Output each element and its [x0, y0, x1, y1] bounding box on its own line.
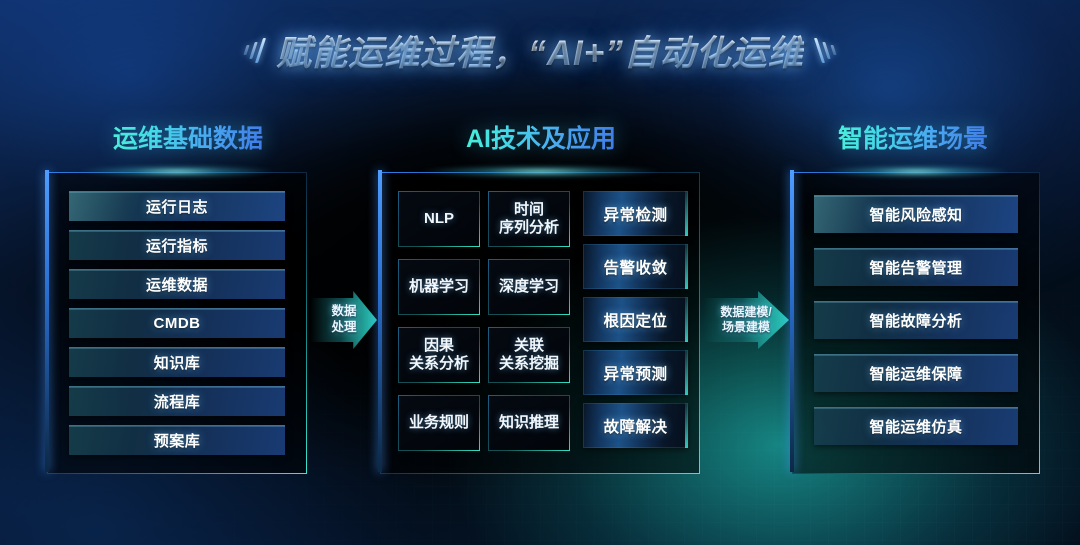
list-item[interactable]: 运行日志 — [69, 191, 285, 221]
tech-box[interactable]: NLP — [398, 191, 480, 247]
list-item[interactable]: 智能运维仿真 — [814, 407, 1018, 445]
panel-ops-data: 运行日志 运行指标 运维数据 CMDB 知识库 流程库 预案库 — [47, 172, 307, 474]
tech-box[interactable]: 业务规则 — [398, 395, 480, 451]
arrow-data-and-scenario-modeling: 数据建模/ 场景建模 — [703, 291, 789, 349]
column-heading-ai-tech: AI技术及应用 — [466, 119, 616, 155]
arrow-label-line2: 场景建模 — [722, 320, 770, 334]
tech-box[interactable]: 关联关系挖掘 — [488, 327, 570, 383]
capability-box[interactable]: 故障解决 — [583, 403, 688, 448]
tech-box[interactable]: 因果关系分析 — [398, 327, 480, 383]
list-item[interactable]: 知识库 — [69, 347, 285, 377]
arrow-label: 数据建模/ 场景建模 — [720, 305, 771, 335]
list-item[interactable]: 智能告警管理 — [814, 248, 1018, 286]
arrow-data-processing: 数据 处理 — [311, 291, 377, 349]
panel-top-glow — [822, 165, 1010, 178]
capability-box[interactable]: 根因定位 — [583, 297, 688, 342]
slide-title-bar: 赋能运维过程，“AI+”自动化运维 — [0, 22, 1080, 78]
list-item[interactable]: CMDB — [69, 308, 285, 338]
capability-box[interactable]: 异常预测 — [583, 350, 688, 395]
title-tick-marks-right-icon — [818, 38, 835, 63]
list-item[interactable]: 智能故障分析 — [814, 301, 1018, 339]
list-item[interactable]: 智能风险感知 — [814, 195, 1018, 233]
capability-box[interactable]: 异常检测 — [583, 191, 688, 236]
panel-aiops-scenarios: 智能风险感知 智能告警管理 智能故障分析 智能运维保障 智能运维仿真 — [792, 172, 1040, 474]
list-item[interactable]: 流程库 — [69, 386, 285, 416]
panel-top-glow — [418, 165, 661, 178]
column-heading-ops-data: 运维基础数据 — [113, 119, 263, 155]
list-item[interactable]: 智能运维保障 — [814, 354, 1018, 392]
tech-box[interactable]: 深度学习 — [488, 259, 570, 315]
panel-top-glow — [78, 165, 276, 178]
tech-box[interactable]: 机器学习 — [398, 259, 480, 315]
capability-box[interactable]: 告警收敛 — [583, 244, 688, 289]
arrow-label-line1: 数据 — [331, 304, 356, 318]
page-title: 赋能运维过程，“AI+”自动化运维 — [276, 25, 803, 76]
arrow-label-line1: 数据建模/ — [720, 305, 771, 319]
slide-canvas: 赋能运维过程，“AI+”自动化运维 运维基础数据 AI技术及应用 智能运维场景 … — [0, 0, 1080, 545]
tech-box[interactable]: 知识推理 — [488, 395, 570, 451]
arrow-label-line2: 处理 — [331, 320, 356, 334]
tech-box[interactable]: 时间序列分析 — [488, 191, 570, 247]
list-item[interactable]: 运行指标 — [69, 230, 285, 260]
arrow-label: 数据 处理 — [331, 304, 356, 335]
column-heading-aiops-scenarios: 智能运维场景 — [838, 119, 988, 155]
list-item[interactable]: 预案库 — [69, 425, 285, 455]
panel-ai-tech: NLP 时间序列分析 机器学习 深度学习 因果关系分析 关联关系挖掘 业务规则 … — [380, 172, 700, 474]
title-tick-marks-left-icon — [245, 38, 262, 63]
list-item[interactable]: 运维数据 — [69, 269, 285, 299]
